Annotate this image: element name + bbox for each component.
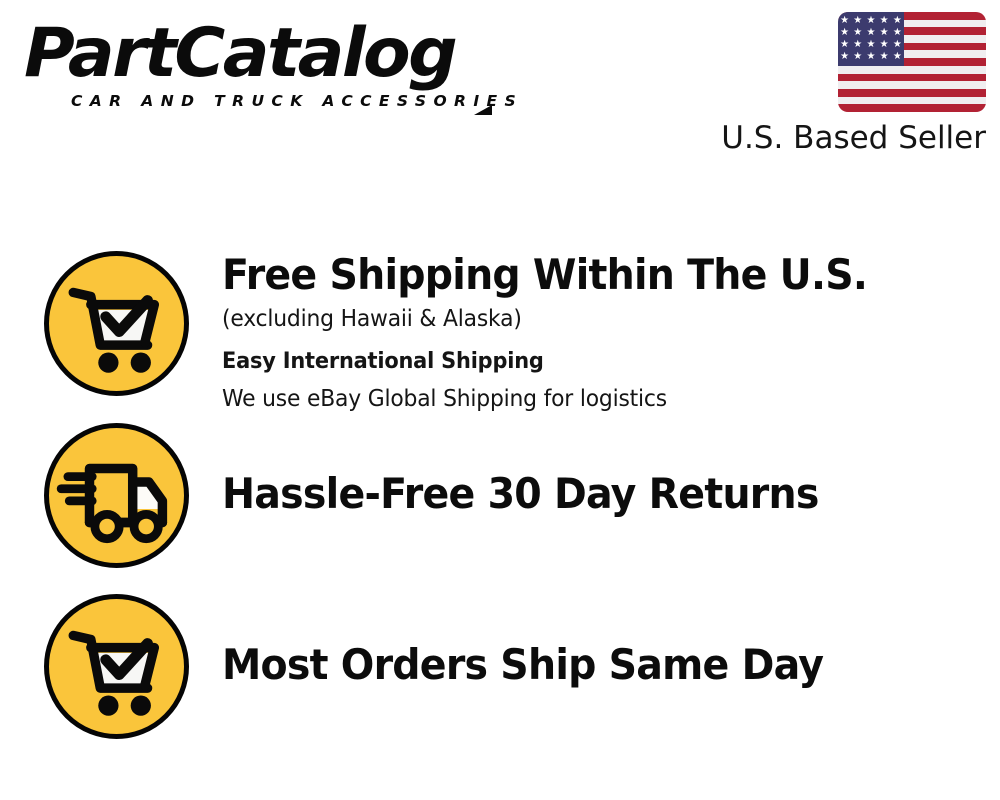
benefit-item-free-shipping: Free Shipping Within The U.S. (excluding… <box>0 251 1000 411</box>
benefit-text-block: Hassle-Free 30 Day Returns <box>222 423 982 518</box>
benefit-title: Free Shipping Within The U.S. <box>222 251 936 299</box>
benefit-title: Most Orders Ship Same Day <box>222 641 936 689</box>
flag-canton: ★★★★★ ★★★★★ ★★★★★ ★★★★★ <box>838 12 904 66</box>
logo-swoosh-icon <box>434 104 494 116</box>
benefit-title: Hassle-Free 30 Day Returns <box>222 470 936 518</box>
us-flag-icon: ★★★★★ ★★★★★ ★★★★★ ★★★★★ <box>838 12 986 112</box>
flag-star-row: ★★★★★ <box>838 40 904 50</box>
shopping-cart-check-glyph <box>49 256 184 391</box>
delivery-truck-glyph <box>49 428 184 563</box>
flag-stripe <box>838 89 986 97</box>
flag-stripe <box>838 81 986 89</box>
flag-star-row: ★★★★★ <box>838 28 904 38</box>
shopping-cart-check-icon <box>44 251 189 396</box>
seller-label: U.S. Based Seller <box>721 118 986 158</box>
flag-star-row: ★★★★★ <box>838 16 904 26</box>
us-based-seller-badge: ★★★★★ ★★★★★ ★★★★★ ★★★★★ U.S. Based Selle… <box>706 12 986 162</box>
benefit-item-returns: Hassle-Free 30 Day Returns <box>0 423 1000 573</box>
shopping-cart-check-icon <box>44 594 189 739</box>
flag-stripe <box>838 66 986 74</box>
flag-stripe <box>838 74 986 82</box>
brand-logo[interactable]: PartCatalog CAR AND TRUCK ACCESSORIES <box>24 18 494 118</box>
flag-star-row: ★★★★★ <box>838 52 904 62</box>
brand-wordmark: PartCatalog <box>24 18 455 90</box>
benefit-note: (excluding Hawaii & Alaska) <box>222 303 944 335</box>
flag-stripe <box>838 97 986 105</box>
benefit-detail: We use eBay Global Shipping for logistic… <box>222 383 944 415</box>
page-header: PartCatalog CAR AND TRUCK ACCESSORIES <box>0 0 1000 175</box>
benefit-item-same-day-ship: Most Orders Ship Same Day <box>0 594 1000 744</box>
benefit-subheading: Easy International Shipping <box>222 345 944 379</box>
shopping-cart-check-glyph <box>49 599 184 734</box>
flag-stripe <box>838 104 986 112</box>
benefit-text-block: Free Shipping Within The U.S. (excluding… <box>222 251 982 415</box>
delivery-truck-icon <box>44 423 189 568</box>
benefit-text-block: Most Orders Ship Same Day <box>222 594 982 689</box>
